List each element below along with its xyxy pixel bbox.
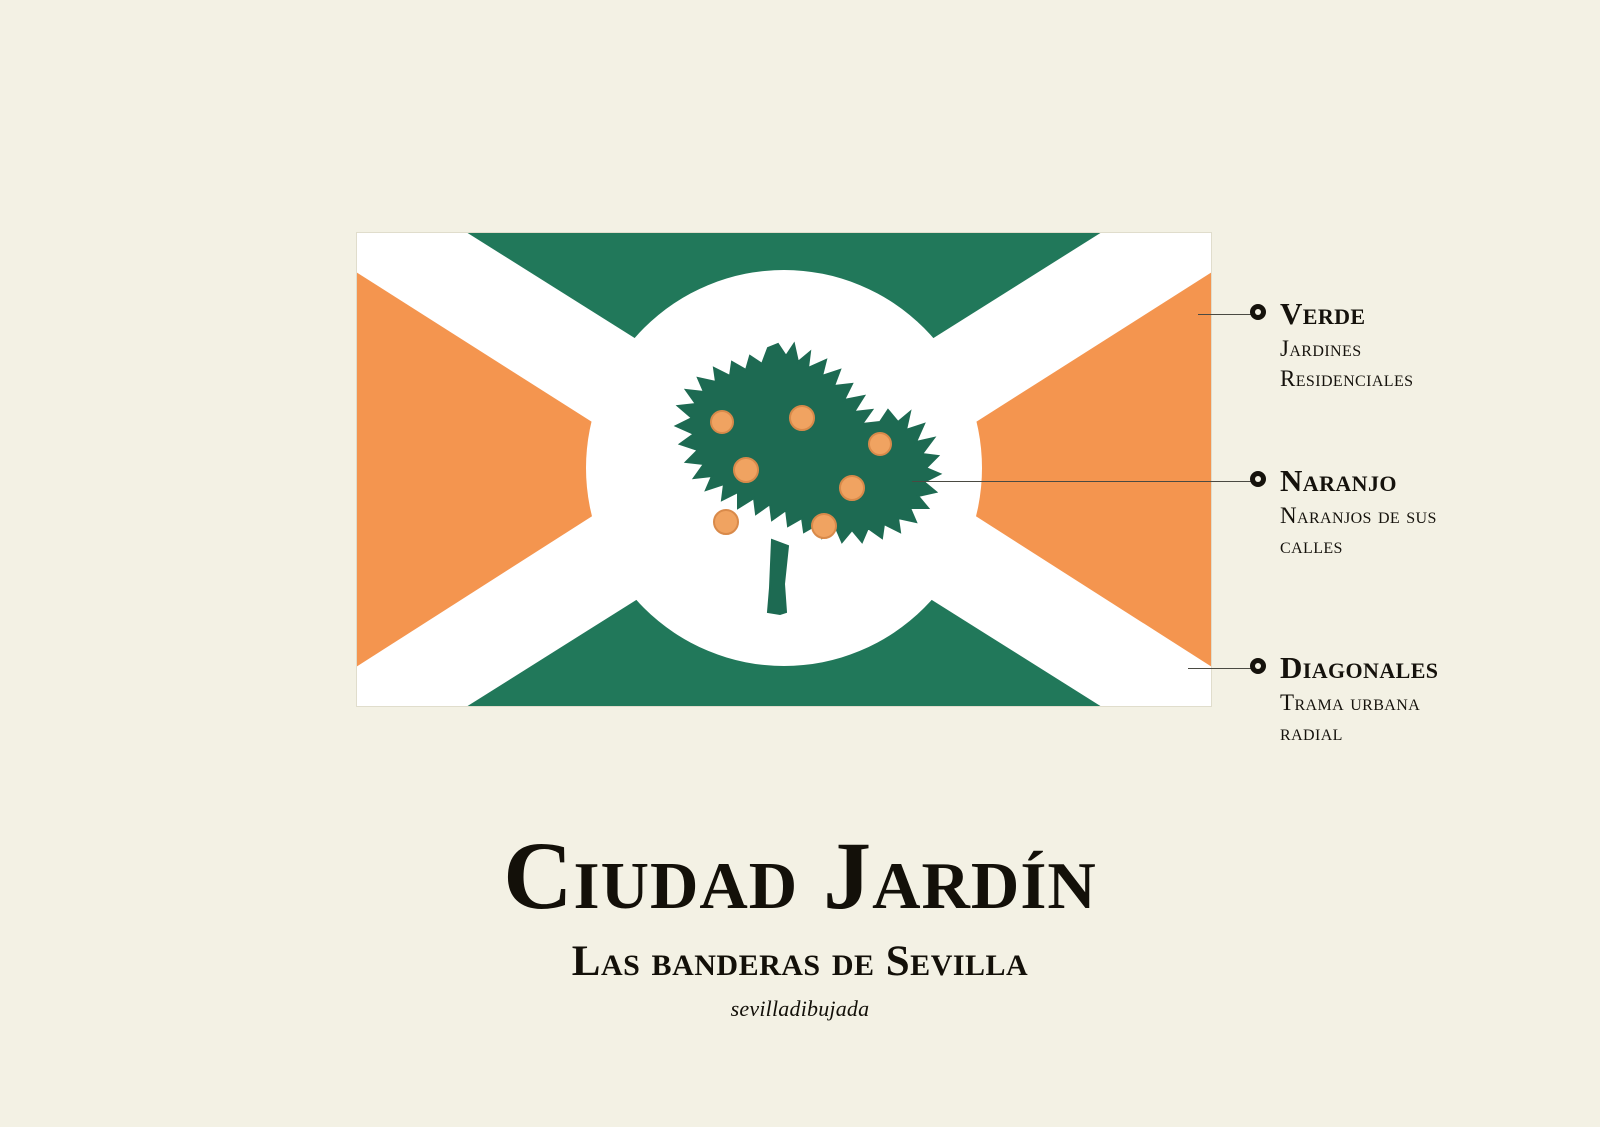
annotation-diagonales-title: Diagonales <box>1280 652 1465 683</box>
tree-fruit <box>790 406 814 430</box>
annotation-verde-description: Jardines Residenciales <box>1280 334 1465 395</box>
annotation-verde-title: Verde <box>1280 298 1465 329</box>
annotation-diagonales-text: Diagonales Trama urbana radial <box>1280 652 1465 749</box>
tree-fruit <box>714 510 738 534</box>
tree-fruit <box>840 476 864 500</box>
page-title: Ciudad Jardín <box>0 828 1600 924</box>
annotation-verde-text: Verde Jardines Residenciales <box>1280 298 1465 395</box>
bullet-marker-icon <box>1248 302 1268 322</box>
title-block: Ciudad Jardín Las banderas de Sevilla se… <box>0 828 1600 1022</box>
annotation-diagonales-description: Trama urbana radial <box>1280 688 1465 749</box>
annotation-verde: Verde Jardines Residenciales <box>1248 298 1465 395</box>
annotation-diagonales: Diagonales Trama urbana radial <box>1248 652 1465 749</box>
leader-line-naranjo <box>912 481 1260 482</box>
author-credit: sevilladibujada <box>0 996 1600 1022</box>
annotation-naranjo: Naranjo Naranjos de sus calles <box>1248 465 1465 562</box>
tree-fruit <box>711 411 733 433</box>
annotation-naranjo-text: Naranjo Naranjos de sus calles <box>1280 465 1465 562</box>
tree-fruit <box>869 433 891 455</box>
page-subtitle: Las banderas de Sevilla <box>0 940 1600 983</box>
bullet-marker-icon <box>1248 656 1268 676</box>
annotation-naranjo-description: Naranjos de sus calles <box>1280 501 1465 562</box>
tree-fruit <box>812 514 836 538</box>
annotation-naranjo-title: Naranjo <box>1280 465 1465 496</box>
poster-canvas: Verde Jardines Residenciales Naranjo Nar… <box>0 0 1600 1127</box>
bullet-marker-icon <box>1248 469 1268 489</box>
flag-svg <box>356 232 1212 707</box>
tree-trunk <box>768 540 788 614</box>
tree-fruit <box>734 458 758 482</box>
flag-illustration <box>356 232 1212 707</box>
